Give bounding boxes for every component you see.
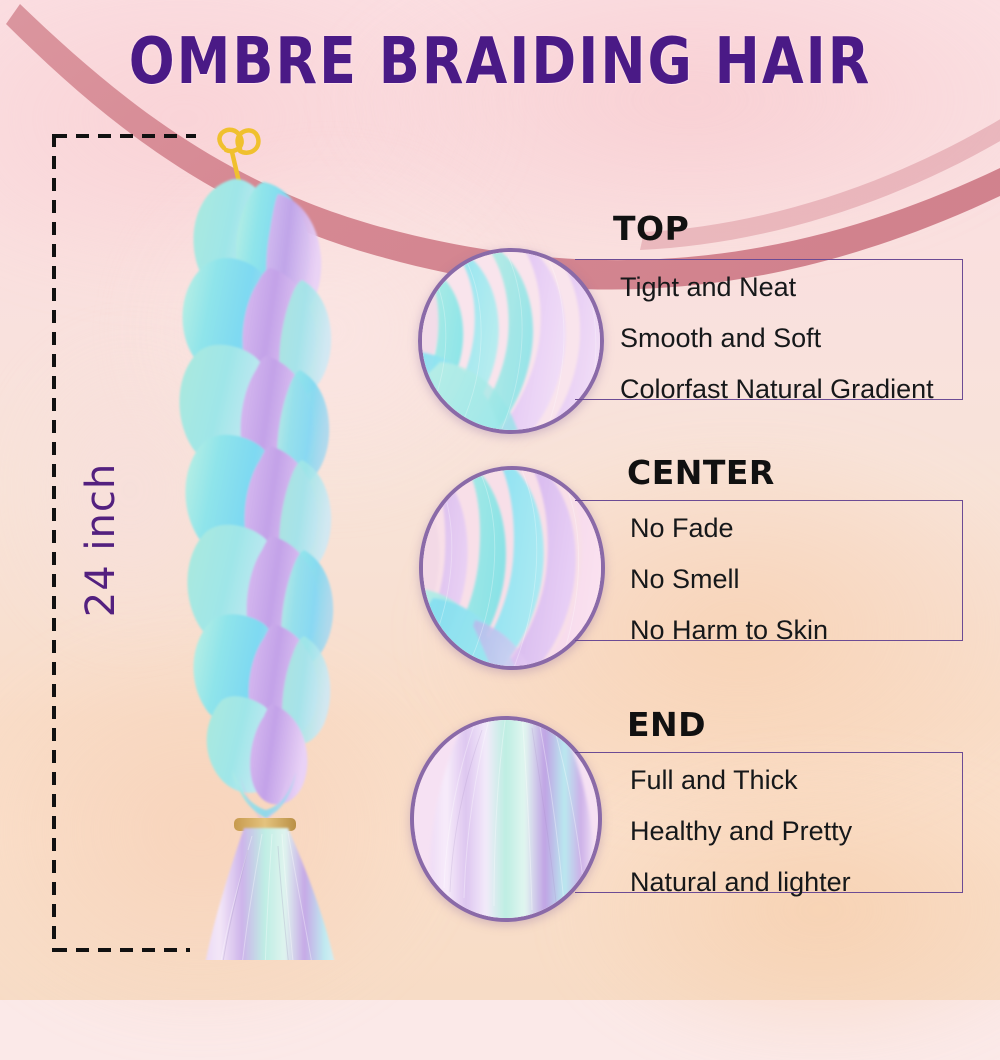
list-item: Colorfast Natural Gradient — [620, 376, 934, 403]
measurement-label: 24 inch — [78, 430, 124, 650]
page-title: OMBRE BRAIDING HAIR — [0, 24, 1000, 98]
list-item: Full and Thick — [630, 767, 852, 794]
list-item: Natural and lighter — [630, 869, 852, 896]
list-item: Tight and Neat — [620, 274, 934, 301]
feature-heading-end: END — [627, 708, 706, 741]
feature-heading-center: CENTER — [627, 456, 775, 489]
list-item: Healthy and Pretty — [630, 818, 852, 845]
feature-list-end: Full and Thick Healthy and Pretty Natura… — [630, 767, 852, 920]
feature-photo-end — [410, 716, 602, 922]
product-braid-image — [160, 120, 420, 960]
list-item: No Smell — [630, 566, 828, 593]
feature-heading-top: TOP — [613, 212, 689, 245]
list-item: No Fade — [630, 515, 828, 542]
list-item: Smooth and Soft — [620, 325, 934, 352]
gold-tie-icon — [219, 130, 258, 182]
infographic-canvas: OMBRE BRAIDING HAIR 24 inch — [0, 0, 1000, 1000]
feature-list-center: No Fade No Smell No Harm to Skin — [630, 515, 828, 668]
feature-list-top: Tight and Neat Smooth and Soft Colorfast… — [620, 274, 934, 427]
list-item: No Harm to Skin — [630, 617, 828, 644]
